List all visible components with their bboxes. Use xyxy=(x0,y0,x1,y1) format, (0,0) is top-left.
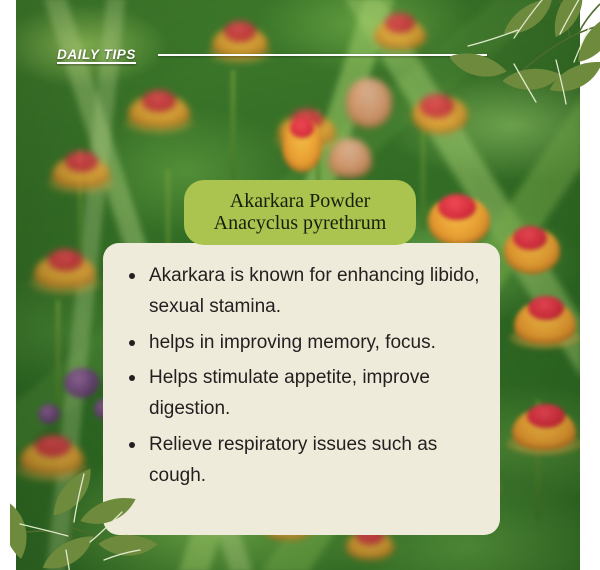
header-rule xyxy=(158,54,487,56)
tips-list: Akarkara is known for enhancing libido, … xyxy=(123,261,480,491)
daily-tips-label: DAILY TIPS xyxy=(57,47,136,62)
tip-text: Akarkara is known for enhancing libido, … xyxy=(149,265,480,317)
herb-latin-name: Anacyclus pyrethrum xyxy=(214,213,387,234)
content-card: Akarkara is known for enhancing libido, … xyxy=(103,243,500,535)
poster: DAILY TIPS Akarkara Powder Anacyclus pyr… xyxy=(0,0,600,570)
title-card: Akarkara Powder Anacyclus pyrethrum xyxy=(184,180,416,245)
list-item: Akarkara is known for enhancing libido, … xyxy=(123,261,480,323)
bullet-icon xyxy=(129,442,135,448)
list-item: Relieve respiratory issues such as cough… xyxy=(123,430,480,492)
tip-text: helps in improving memory, focus. xyxy=(149,332,436,353)
list-item: helps in improving memory, focus. xyxy=(123,328,480,359)
bullet-icon xyxy=(129,273,135,279)
tip-text: Helps stimulate appetite, improve digest… xyxy=(149,367,430,419)
tip-text: Relieve respiratory issues such as cough… xyxy=(149,434,437,486)
bullet-icon xyxy=(129,375,135,381)
list-item: Helps stimulate appetite, improve digest… xyxy=(123,363,480,425)
header: DAILY TIPS xyxy=(57,47,487,62)
bullet-icon xyxy=(129,340,135,346)
herb-common-name: Akarkara Powder xyxy=(230,191,371,212)
